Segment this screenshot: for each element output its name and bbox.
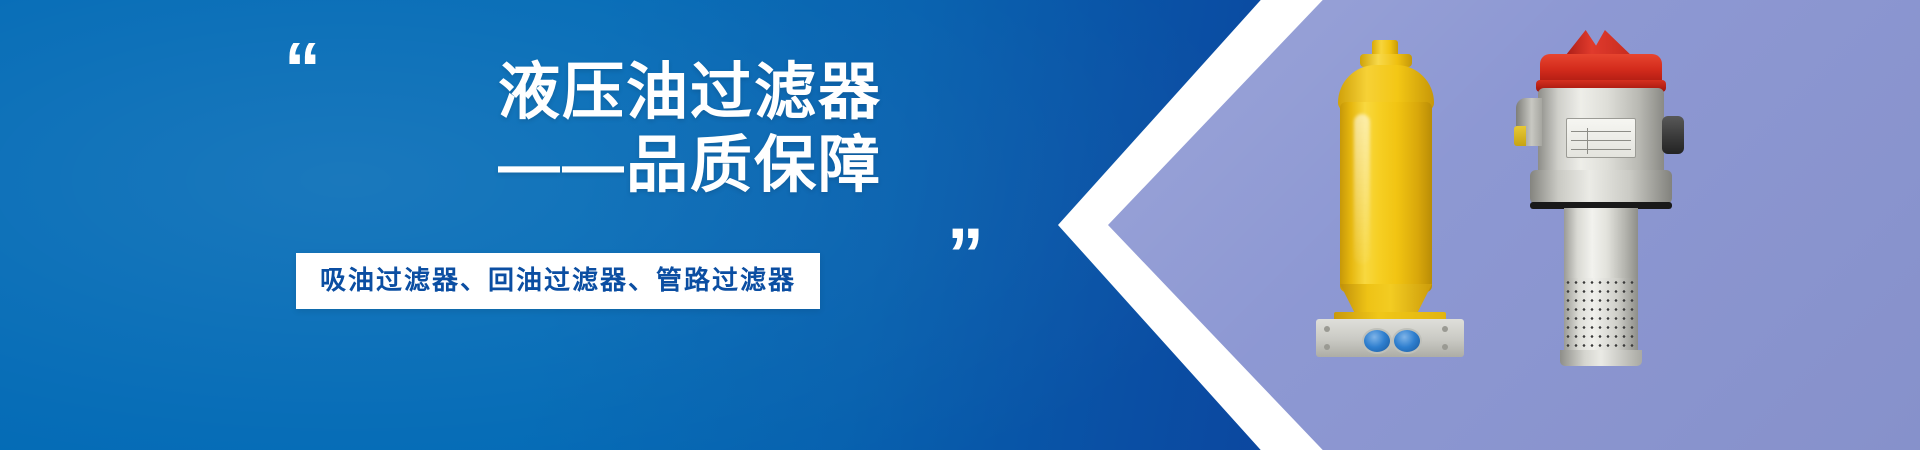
return-filter-side-port-plug [1514, 126, 1526, 146]
yellow-filter-bolt [1442, 326, 1448, 332]
subtitle-chip: 吸油过滤器、回油过滤器、管路过滤器 [296, 253, 820, 309]
return-filter-foot [1560, 350, 1642, 366]
yellow-filter-highlight [1354, 114, 1370, 264]
nameplate-rule [1571, 149, 1631, 150]
headline-line-2: ——品质保障 [282, 129, 882, 202]
subtitle-text: 吸油过滤器、回油过滤器、管路过滤器 [320, 266, 796, 295]
close-quote-icon: „ [947, 176, 980, 250]
return-filter-indicator-knob [1662, 116, 1684, 154]
nameplate-rule [1571, 140, 1631, 141]
product-image-yellow-pipeline-filter [1310, 40, 1470, 340]
headline-line-1: 液压油过滤器 [282, 56, 882, 129]
product-showcase-diamond [1040, 0, 1920, 450]
nameplate-rule [1571, 131, 1631, 132]
promo-banner: “ 液压油过滤器 ——品质保障 „ 吸油过滤器、回油过滤器、管路过滤器 [0, 0, 1920, 450]
yellow-filter-port-outlet [1392, 328, 1422, 354]
yellow-filter-bolt [1324, 344, 1330, 350]
yellow-filter-bolt [1324, 326, 1330, 332]
product-image-grey-return-filter [1502, 30, 1717, 370]
yellow-filter-bolt [1442, 344, 1448, 350]
nameplate-divider [1587, 128, 1588, 154]
return-filter-flange [1530, 170, 1672, 204]
return-filter-perforated-screen [1564, 278, 1638, 354]
return-filter-nameplate [1566, 118, 1636, 158]
yellow-filter-port-inlet [1362, 328, 1392, 354]
page-title: 液压油过滤器 ——品质保障 [282, 56, 882, 202]
